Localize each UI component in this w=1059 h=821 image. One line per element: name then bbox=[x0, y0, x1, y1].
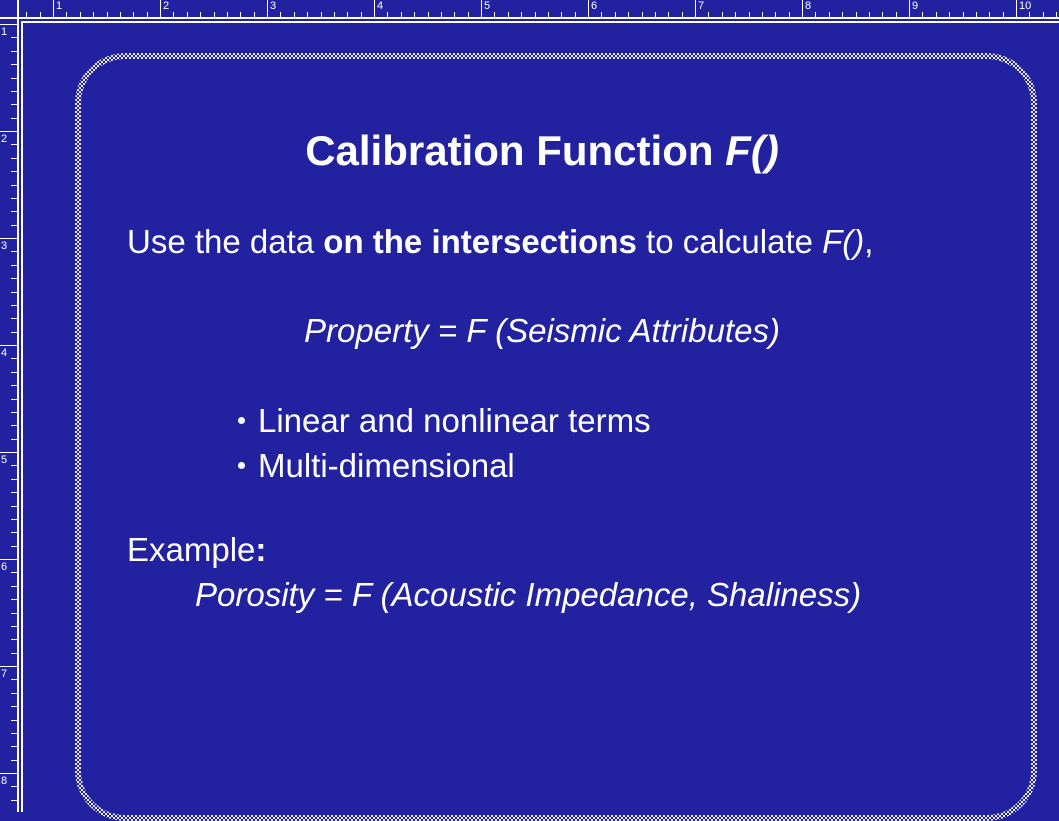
ruler-tick-minor bbox=[441, 12, 442, 17]
lead-part-1: Use the data bbox=[127, 223, 323, 260]
ruler-tick-major bbox=[802, 0, 803, 17]
ruler-tick-major bbox=[53, 0, 54, 17]
ruler-tick-minor bbox=[708, 12, 709, 17]
ruler-tick-minor bbox=[11, 37, 17, 38]
slide-title-plain: Calibration Function bbox=[305, 127, 725, 174]
lead-sentence[interactable]: Use the data on the intersections to cal… bbox=[127, 223, 1007, 261]
ruler-tick-major bbox=[0, 666, 17, 667]
ruler-label: 3 bbox=[270, 0, 276, 13]
ruler-tick-major bbox=[0, 773, 17, 774]
ruler-tick-minor bbox=[11, 51, 17, 52]
ruler-tick-minor bbox=[11, 251, 17, 252]
ruler-tick-minor bbox=[1029, 12, 1030, 17]
ruler-tick-major bbox=[0, 131, 17, 132]
ruler-tick-minor bbox=[575, 12, 576, 17]
ruler-tick-minor bbox=[11, 639, 17, 640]
ruler-tick-minor bbox=[989, 12, 990, 17]
ruler-tick-minor bbox=[11, 278, 17, 279]
ruler-label: 3 bbox=[1, 240, 7, 253]
ruler-label: 1 bbox=[56, 0, 62, 13]
ruler-tick-minor bbox=[11, 786, 17, 787]
ruler-tick-minor bbox=[11, 158, 17, 159]
ruler-tick-minor bbox=[11, 479, 17, 480]
ruler-label: 6 bbox=[1, 561, 7, 574]
ruler-tick-minor bbox=[936, 12, 937, 17]
ruler-tick-minor bbox=[214, 12, 215, 17]
ruler-tick-minor bbox=[628, 12, 629, 17]
slide-title-italic: F() bbox=[725, 127, 779, 174]
ruler-tick-minor bbox=[240, 12, 241, 17]
ruler-tick-minor bbox=[11, 760, 17, 761]
ruler-tick-minor bbox=[11, 64, 17, 65]
ruler-tick-minor bbox=[66, 12, 67, 17]
ruler-tick-minor bbox=[11, 118, 17, 119]
ruler-tick-minor bbox=[1003, 12, 1004, 17]
ruler-tick-major bbox=[160, 0, 161, 17]
ruler-tick-minor bbox=[80, 12, 81, 17]
ruler-tick-minor bbox=[11, 519, 17, 520]
ruler-tick-minor bbox=[869, 12, 870, 17]
ruler-label: 4 bbox=[377, 0, 383, 13]
ruler-tick-minor bbox=[521, 12, 522, 17]
ruler-label: 8 bbox=[805, 0, 811, 13]
ruler-tick-minor bbox=[347, 12, 348, 17]
ruler-tick-minor bbox=[842, 12, 843, 17]
ruler-tick-minor bbox=[11, 465, 17, 466]
ruler-tick-minor bbox=[11, 492, 17, 493]
main-formula[interactable]: Property = F (Seismic Attributes) bbox=[23, 312, 1059, 350]
ruler-tick-minor bbox=[11, 318, 17, 319]
ruler-tick-minor bbox=[428, 12, 429, 17]
ruler-tick-minor bbox=[133, 12, 134, 17]
ruler-tick-minor bbox=[749, 12, 750, 17]
list-item[interactable]: Linear and nonlinear terms bbox=[238, 398, 938, 443]
ruler-tick-major bbox=[0, 345, 17, 346]
ruler-tick-minor bbox=[387, 12, 388, 17]
ruler-tick-minor bbox=[11, 506, 17, 507]
ruler-tick-minor bbox=[454, 12, 455, 17]
example-label-colon: : bbox=[255, 531, 266, 568]
ruler-tick-minor bbox=[173, 12, 174, 17]
ruler-tick-minor bbox=[11, 332, 17, 333]
ruler-tick-minor bbox=[187, 12, 188, 17]
ruler-tick-minor bbox=[829, 12, 830, 17]
ruler-tick-minor bbox=[468, 12, 469, 17]
ruler-tick-minor bbox=[11, 412, 17, 413]
ruler-tick-major bbox=[0, 24, 17, 25]
ruler-tick-major bbox=[481, 0, 482, 17]
ruler-tick-minor bbox=[963, 12, 964, 17]
ruler-label: 7 bbox=[1, 668, 7, 681]
ruler-label: 5 bbox=[1, 454, 7, 467]
ruler-tick-minor bbox=[200, 12, 201, 17]
bullet-dot-icon bbox=[238, 462, 245, 469]
ruler-tick-minor bbox=[294, 12, 295, 17]
ruler-label: 9 bbox=[912, 0, 918, 13]
ruler-tick-minor bbox=[856, 12, 857, 17]
ruler-tick-minor bbox=[11, 599, 17, 600]
ruler-label: 6 bbox=[591, 0, 597, 13]
ruler-tick-minor bbox=[655, 12, 656, 17]
ruler-tick-minor bbox=[976, 12, 977, 17]
ruler-tick-minor bbox=[11, 425, 17, 426]
example-label[interactable]: Example: bbox=[127, 531, 266, 569]
ruler-tick-minor bbox=[401, 12, 402, 17]
ruler-tick-minor bbox=[11, 399, 17, 400]
slide-title[interactable]: Calibration Function F() bbox=[23, 127, 1059, 175]
ruler-tick-minor bbox=[11, 372, 17, 373]
ruler-tick-minor bbox=[11, 78, 17, 79]
ruler-tick-minor bbox=[11, 626, 17, 627]
ruler-tick-minor bbox=[11, 91, 17, 92]
ruler-tick-minor bbox=[11, 800, 17, 801]
ruler-tick-minor bbox=[11, 265, 17, 266]
ruler-tick-minor bbox=[642, 12, 643, 17]
ruler-tick-minor bbox=[11, 185, 17, 186]
ruler-tick-minor bbox=[147, 12, 148, 17]
ruler-tick-minor bbox=[11, 439, 17, 440]
slide-editor-window: 12345678910 12345678 Calibration Functio… bbox=[0, 0, 1059, 812]
ruler-tick-minor bbox=[26, 12, 27, 17]
ruler-tick-minor bbox=[227, 12, 228, 17]
ruler-tick-minor bbox=[615, 12, 616, 17]
ruler-tick-minor bbox=[11, 679, 17, 680]
ruler-tick-minor bbox=[735, 12, 736, 17]
ruler-tick-minor bbox=[11, 613, 17, 614]
ruler-tick-minor bbox=[949, 12, 950, 17]
ruler-tick-minor bbox=[494, 12, 495, 17]
ruler-tick-major bbox=[0, 559, 17, 560]
ruler-tick-minor bbox=[11, 385, 17, 386]
ruler-tick-minor bbox=[508, 12, 509, 17]
horizontal-ruler[interactable]: 12345678910 bbox=[19, 0, 1059, 19]
ruler-tick-minor bbox=[815, 12, 816, 17]
ruler-label: 7 bbox=[698, 0, 704, 13]
ruler-tick-minor bbox=[11, 211, 17, 212]
lead-part-3: to calculate bbox=[637, 223, 822, 260]
lead-part-5: , bbox=[864, 223, 873, 260]
ruler-tick-minor bbox=[280, 12, 281, 17]
ruler-tick-minor bbox=[11, 572, 17, 573]
ruler-label: 8 bbox=[1, 775, 7, 788]
ruler-tick-minor bbox=[882, 12, 883, 17]
ruler-tick-minor bbox=[107, 12, 108, 17]
bullet-label: Multi-dimensional bbox=[258, 447, 515, 485]
ruler-tick-major bbox=[0, 238, 17, 239]
ruler-tick-minor bbox=[307, 12, 308, 17]
ruler-tick-minor bbox=[11, 292, 17, 293]
ruler-tick-major bbox=[1016, 0, 1017, 17]
ruler-tick-minor bbox=[93, 12, 94, 17]
ruler-tick-minor bbox=[334, 12, 335, 17]
ruler-tick-minor bbox=[1056, 12, 1057, 17]
list-item[interactable]: Multi-dimensional bbox=[238, 443, 938, 488]
ruler-tick-major bbox=[374, 0, 375, 17]
ruler-tick-minor bbox=[561, 12, 562, 17]
ruler-tick-minor bbox=[11, 586, 17, 587]
vertical-ruler[interactable]: 12345678 bbox=[0, 19, 19, 812]
ruler-tick-minor bbox=[762, 12, 763, 17]
example-formula[interactable]: Porosity = F (Acoustic Impedance, Shalin… bbox=[195, 576, 861, 614]
ruler-tick-minor bbox=[40, 12, 41, 17]
ruler-tick-minor bbox=[11, 720, 17, 721]
ruler-label: 2 bbox=[1, 133, 7, 146]
ruler-tick-major bbox=[588, 0, 589, 17]
ruler-tick-major bbox=[267, 0, 268, 17]
ruler-tick-minor bbox=[11, 305, 17, 306]
ruler-tick-minor bbox=[321, 12, 322, 17]
ruler-tick-minor bbox=[682, 12, 683, 17]
ruler-tick-minor bbox=[548, 12, 549, 17]
slide-canvas[interactable]: Calibration Function F() Use the data on… bbox=[21, 21, 1059, 812]
ruler-tick-major bbox=[909, 0, 910, 17]
ruler-tick-major bbox=[695, 0, 696, 17]
bullet-label: Linear and nonlinear terms bbox=[258, 402, 651, 440]
lead-part-4-italic: F() bbox=[822, 223, 864, 260]
ruler-tick-minor bbox=[11, 746, 17, 747]
ruler-tick-minor bbox=[11, 693, 17, 694]
ruler-tick-minor bbox=[535, 12, 536, 17]
ruler-tick-minor bbox=[11, 733, 17, 734]
ruler-tick-minor bbox=[414, 12, 415, 17]
ruler-tick-minor bbox=[11, 358, 17, 359]
ruler-corner-box bbox=[0, 0, 19, 19]
example-label-text: Example bbox=[127, 531, 255, 568]
ruler-label: 5 bbox=[484, 0, 490, 13]
ruler-tick-minor bbox=[896, 12, 897, 17]
ruler-tick-minor bbox=[120, 12, 121, 17]
ruler-tick-minor bbox=[668, 12, 669, 17]
ruler-tick-minor bbox=[11, 198, 17, 199]
ruler-tick-minor bbox=[11, 104, 17, 105]
ruler-tick-minor bbox=[11, 706, 17, 707]
ruler-tick-minor bbox=[922, 12, 923, 17]
bullet-dot-icon bbox=[238, 417, 245, 424]
ruler-tick-minor bbox=[789, 12, 790, 17]
ruler-tick-minor bbox=[11, 653, 17, 654]
ruler-label: 2 bbox=[163, 0, 169, 13]
ruler-tick-minor bbox=[361, 12, 362, 17]
ruler-tick-minor bbox=[11, 532, 17, 533]
ruler-tick-minor bbox=[11, 171, 17, 172]
bullet-list[interactable]: Linear and nonlinear terms Multi-dimensi… bbox=[238, 398, 938, 488]
ruler-tick-minor bbox=[775, 12, 776, 17]
ruler-tick-minor bbox=[11, 546, 17, 547]
slide-content: Calibration Function F() Use the data on… bbox=[23, 23, 1059, 814]
ruler-label: 4 bbox=[1, 347, 7, 360]
lead-part-2-bold: on the intersections bbox=[323, 223, 637, 260]
ruler-tick-minor bbox=[11, 144, 17, 145]
ruler-tick-minor bbox=[254, 12, 255, 17]
ruler-tick-minor bbox=[11, 225, 17, 226]
ruler-tick-minor bbox=[601, 12, 602, 17]
ruler-tick-minor bbox=[1043, 12, 1044, 17]
ruler-tick-major bbox=[0, 452, 17, 453]
ruler-tick-minor bbox=[722, 12, 723, 17]
ruler-label: 1 bbox=[1, 26, 7, 39]
